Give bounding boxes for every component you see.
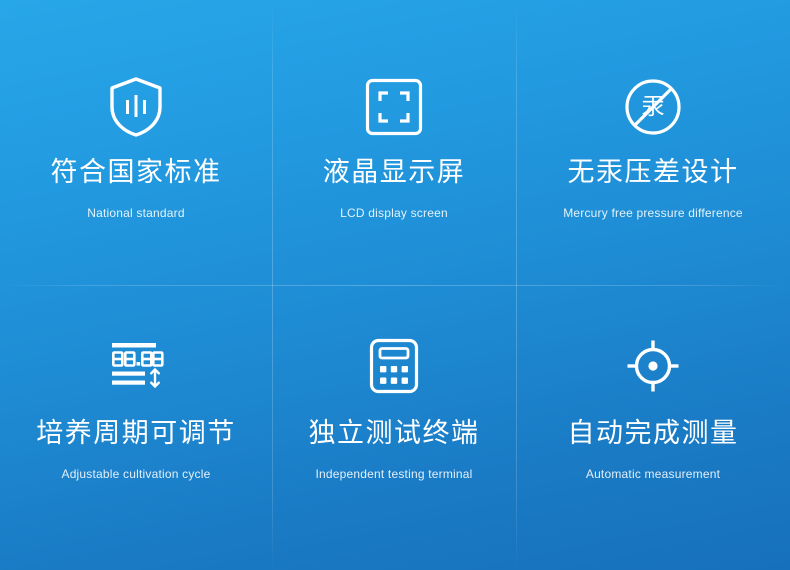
feature-grid: 符合国家标准 National standard 液晶显示屏 LCD displ…	[0, 0, 790, 570]
feature-subtitle: LCD display screen	[340, 206, 448, 220]
feature-subtitle: Adjustable cultivation cycle	[61, 467, 210, 481]
feature-title: 液晶显示屏	[323, 158, 466, 188]
feature-cell-lcd-display: 液晶显示屏 LCD display screen	[272, 0, 516, 285]
feature-cell-auto-measurement: 自动完成测量 Automatic measurement	[516, 285, 790, 570]
feature-title: 符合国家标准	[51, 158, 222, 188]
feature-title: 自动完成测量	[568, 419, 739, 449]
feature-title: 培养周期可调节	[36, 419, 236, 449]
feature-highlights-panel: 符合国家标准 National standard 液晶显示屏 LCD displ…	[0, 0, 790, 570]
adjustable-display-icon	[107, 335, 165, 397]
feature-subtitle: Automatic measurement	[586, 467, 720, 481]
feature-cell-adjustable-cycle: 培养周期可调节 Adjustable cultivation cycle	[0, 285, 272, 570]
crosshair-target-icon	[625, 335, 681, 397]
lcd-frame-icon	[365, 76, 423, 138]
calculator-icon	[369, 335, 419, 397]
feature-cell-testing-terminal: 独立测试终端 Independent testing terminal	[272, 285, 516, 570]
shield-icon	[107, 76, 165, 138]
feature-subtitle: National standard	[87, 206, 184, 220]
feature-title: 无汞压差设计	[568, 158, 739, 188]
feature-subtitle: Mercury free pressure difference	[563, 206, 743, 220]
feature-title: 独立测试终端	[309, 419, 480, 449]
no-mercury-icon: 汞	[624, 76, 682, 138]
feature-subtitle: Independent testing terminal	[315, 467, 472, 481]
feature-cell-national-standard: 符合国家标准 National standard	[0, 0, 272, 285]
feature-cell-no-mercury: 汞 无汞压差设计 Mercury free pressure differenc…	[516, 0, 790, 285]
